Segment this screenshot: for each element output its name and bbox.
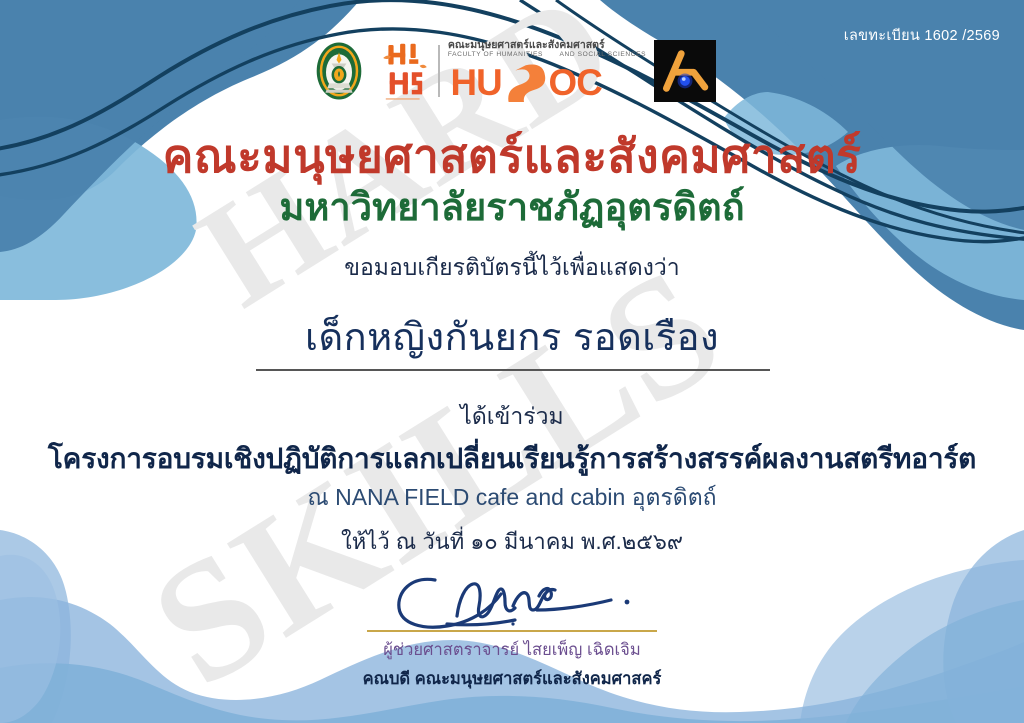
husoc-wordmark-icon: HU OC <box>448 60 628 102</box>
page-title: คณะมนุษยศาสตร์และสังคมศาสตร์ <box>0 131 1024 182</box>
project-title: โครงการอบรมเชิงปฏิบัติการแลกเปลี่ยนเรียน… <box>0 437 1024 481</box>
hs-monogram-icon <box>378 38 430 104</box>
lead-line: ขอมอบเกียรติบัตรนี้ไว้เพื่อแสดงว่า <box>0 250 1024 286</box>
svg-text:OC: OC <box>548 62 602 102</box>
university-seal-icon <box>308 40 370 102</box>
certificate-content: เลขทะเบียน 1602 /2569 <box>0 0 1024 723</box>
joined-line: ได้เข้าร่วม <box>0 399 1024 435</box>
logo-divider <box>438 45 440 97</box>
handwritten-signature-icon <box>387 566 637 632</box>
recipient-name: เด็กหญิงกันยกร รอดเรือง <box>0 306 1024 367</box>
husoc-eng-left: FACULTY OF HUMANITIES <box>448 51 543 58</box>
date-line: ให้ไว้ ณ วันที่ ๑๐ มีนาคม พ.ศ.๒๕๖๙ <box>0 524 1024 559</box>
husoc-thai-label: คณะมนุษยศาสตร์และสังคมศาสตร์ <box>448 40 605 52</box>
logo-row: คณะมนุษยศาสตร์และสังคมศาสตร์ FACULTY OF … <box>0 38 1024 104</box>
venue-line: ณ NANA FIELD cafe and cabin อุตรดิตถ์ <box>0 480 1024 516</box>
husoc-logo: คณะมนุษยศาสตร์และสังคมศาสตร์ FACULTY OF … <box>448 40 646 102</box>
signature-rule <box>367 630 657 632</box>
signer-role: คณบดี คณะมนุษยศาสตร์และสังคมศาสคร์ <box>363 666 662 692</box>
recipient-name-rule <box>256 369 770 371</box>
university-name: มหาวิทยาลัยราชภัฏอุตรดิตถ์ <box>0 188 1024 230</box>
husoc-eng-right: AND SOCIAL SCIENCES <box>560 51 647 58</box>
nana-field-dark-logo-icon <box>654 40 716 102</box>
certificate-page: HARD SKILLS เลขทะเบียน 1602 /2569 <box>0 0 1024 723</box>
signer-name: ผู้ช่วยศาสตราจารย์ ไสยเพ็ญ เฉิดเจิม <box>383 637 640 663</box>
signature-block: ผู้ช่วยศาสตราจารย์ ไสยเพ็ญ เฉิดเจิม คณบด… <box>0 566 1024 692</box>
svg-text:HU: HU <box>450 62 501 102</box>
